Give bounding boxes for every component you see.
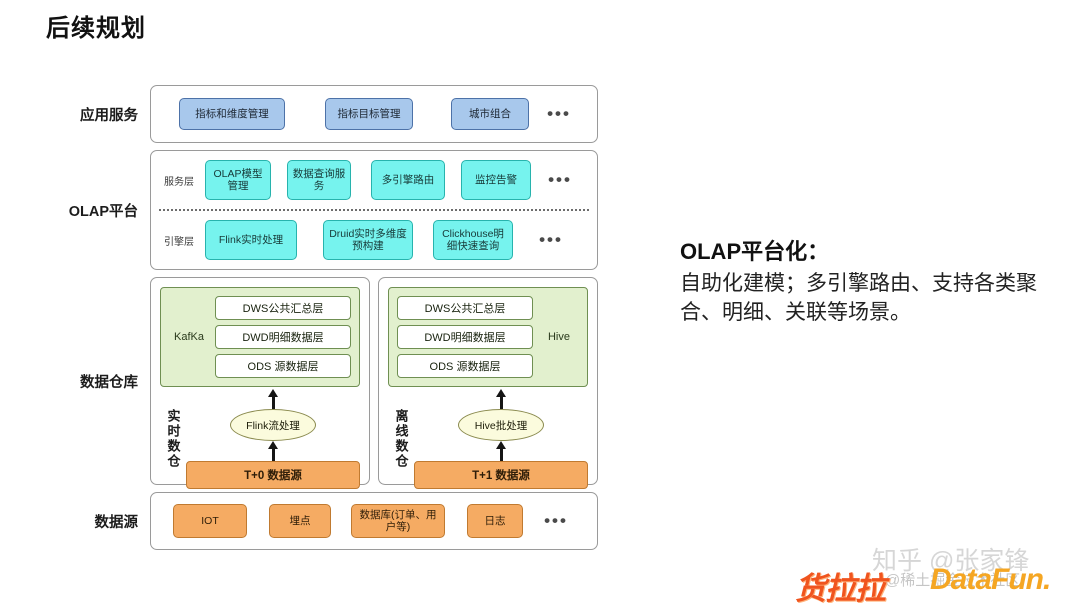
olap-service-layer: 服务层 OLAP模型管理 数据查询服务 多引擎路由 监控告警 ••• [151,151,597,209]
notes-block: OLAP平台化： 自助化建模；多引擎路由、支持各类聚合、明细、关联等场景。 [680,234,1050,328]
layer-body-application: 指标和维度管理 指标目标管理 城市组合 ••• [150,85,598,143]
notes-title: OLAP平台化： [680,234,1050,266]
layer-label-warehouse: 数据仓库 [62,277,150,485]
offline-vertical-label: 离线数仓 [388,389,414,489]
layer-label-olap: OLAP平台 [62,150,150,270]
page-title: 后续规划 [46,8,146,43]
layer-row-application: 应用服务 指标和维度管理 指标目标管理 城市组合 ••• [62,85,598,143]
layer-label-application: 应用服务 [62,85,150,143]
offline-arrow-to-layers-icon [496,389,506,409]
engine-chip-flink-realtime[interactable]: Flink实时处理 [205,220,297,260]
layer-row-warehouse: 数据仓库 KafKa DWS公共汇总层 DWD明细数据层 ODS 源数据层 实时… [62,277,598,485]
engine-chip-clickhouse-detail[interactable]: Clickhouse明细快速查询 [433,220,513,260]
datasource-chip-logs[interactable]: 日志 [467,504,523,538]
offline-flow: 离线数仓 Hive批处理 T+1 数据源 [388,389,588,489]
offline-process-node[interactable]: Hive批处理 [458,409,544,441]
datasource-chip-iot[interactable]: IOT [173,504,247,538]
layer-row-olap: OLAP平台 服务层 OLAP模型管理 数据查询服务 多引擎路由 监控告警 ••… [62,150,598,270]
olap-engine-layer-label: 引擎层 [159,233,199,248]
application-chip-group: 指标和维度管理 指标目标管理 城市组合 ••• [151,86,597,142]
olap-engine-layer: 引擎层 Flink实时处理 Druid实时多维度预构建 Clickhouse明细… [151,211,597,269]
datasource-more-dots-icon[interactable]: ••• [523,511,589,531]
realtime-arrow-to-process-icon [268,441,278,461]
offline-flow-body: Hive批处理 T+1 数据源 [414,389,588,489]
app-chip-city-combination[interactable]: 城市组合 [451,98,529,130]
olap-service-more-dots-icon[interactable]: ••• [531,170,589,190]
notes-body: 自助化建模；多引擎路由、支持各类聚合、明细、关联等场景。 [680,270,1050,328]
realtime-layer-panel: KafKa DWS公共汇总层 DWD明细数据层 ODS 源数据层 [160,287,360,387]
realtime-source-box[interactable]: T+0 数据源 [186,461,360,489]
slide-canvas: 后续规划 应用服务 指标和维度管理 指标目标管理 城市组合 ••• OLAP平台… [0,0,1080,605]
offline-layer-stack: DWS公共汇总层 DWD明细数据层 ODS 源数据层 [397,296,533,378]
layer-body-datasource: IOT 埋点 数据库(订单、用户等) 日志 ••• [150,492,598,550]
offline-storage-tag: Hive [539,331,579,343]
realtime-layer-ods[interactable]: ODS 源数据层 [215,354,351,378]
realtime-layer-dws[interactable]: DWS公共汇总层 [215,296,351,320]
layer-body-warehouse: KafKa DWS公共汇总层 DWD明细数据层 ODS 源数据层 实时数仓 Fl… [150,277,598,485]
olap-engine-more-dots-icon[interactable]: ••• [513,230,589,250]
engine-chip-druid-precompute[interactable]: Druid实时多维度预构建 [323,220,413,260]
offline-layer-panel: Hive DWS公共汇总层 DWD明细数据层 ODS 源数据层 [388,287,588,387]
app-chip-metric-dimension[interactable]: 指标和维度管理 [179,98,285,130]
olap-chip-query-service[interactable]: 数据查询服务 [287,160,351,200]
watermark-huolala-logo: 货拉拉 [795,563,885,608]
watermark-datafun-logo: DataFun. [930,563,1050,597]
realtime-process-node[interactable]: Flink流处理 [230,409,316,441]
offline-layer-dws[interactable]: DWS公共汇总层 [397,296,533,320]
warehouse-column-realtime: KafKa DWS公共汇总层 DWD明细数据层 ODS 源数据层 实时数仓 Fl… [150,277,370,485]
offline-layer-dwd[interactable]: DWD明细数据层 [397,325,533,349]
architecture-diagram: 应用服务 指标和维度管理 指标目标管理 城市组合 ••• OLAP平台 服务层 … [62,85,598,557]
datasource-chip-tracking[interactable]: 埋点 [269,504,331,538]
olap-chip-monitoring-alert[interactable]: 监控告警 [461,160,531,200]
realtime-storage-tag: KafKa [169,331,209,343]
realtime-layer-dwd[interactable]: DWD明细数据层 [215,325,351,349]
realtime-flow-body: Flink流处理 T+0 数据源 [186,389,360,489]
olap-service-layer-label: 服务层 [159,173,199,188]
datasource-chip-database[interactable]: 数据库(订单、用户等) [351,504,445,538]
realtime-flow: 实时数仓 Flink流处理 T+0 数据源 [160,389,360,489]
realtime-layer-stack: DWS公共汇总层 DWD明细数据层 ODS 源数据层 [215,296,351,378]
layer-row-datasource: 数据源 IOT 埋点 数据库(订单、用户等) 日志 ••• [62,492,598,550]
realtime-vertical-label: 实时数仓 [160,389,186,489]
realtime-arrow-to-layers-icon [268,389,278,409]
datasource-chip-group: IOT 埋点 数据库(订单、用户等) 日志 ••• [151,493,597,549]
app-more-dots-icon[interactable]: ••• [529,104,589,124]
offline-layer-ods[interactable]: ODS 源数据层 [397,354,533,378]
layer-label-datasource: 数据源 [62,492,150,550]
olap-chip-model-management[interactable]: OLAP模型管理 [205,160,271,200]
layer-body-olap: 服务层 OLAP模型管理 数据查询服务 多引擎路由 监控告警 ••• 引擎层 F… [150,150,598,270]
offline-arrow-to-process-icon [496,441,506,461]
offline-source-box[interactable]: T+1 数据源 [414,461,588,489]
app-chip-metric-target[interactable]: 指标目标管理 [325,98,413,130]
warehouse-column-offline: Hive DWS公共汇总层 DWD明细数据层 ODS 源数据层 离线数仓 Hiv… [378,277,598,485]
olap-chip-multi-engine-routing[interactable]: 多引擎路由 [371,160,445,200]
